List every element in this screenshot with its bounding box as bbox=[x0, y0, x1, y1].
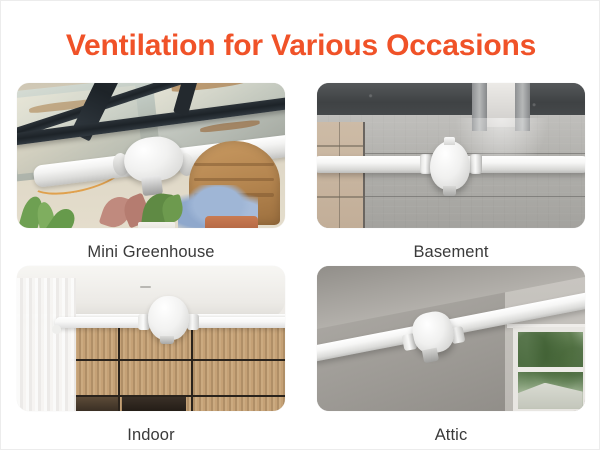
terracotta-pot bbox=[205, 216, 259, 228]
occasion-tile-mini-greenhouse[interactable]: Mini Greenhouse bbox=[1, 83, 301, 266]
cabinet-recess bbox=[122, 397, 186, 411]
cabinet-recess bbox=[71, 397, 118, 411]
occasion-tile-attic[interactable]: Attic bbox=[301, 266, 600, 449]
attic-window bbox=[513, 327, 585, 411]
white-pot bbox=[138, 222, 176, 228]
indoor-photo bbox=[17, 266, 285, 411]
cabinet-edge bbox=[118, 321, 121, 411]
tile-caption: Indoor bbox=[127, 426, 174, 445]
tile-caption: Mini Greenhouse bbox=[87, 243, 214, 262]
inline-duct-fan bbox=[148, 296, 188, 340]
window-muntin-bar bbox=[518, 367, 583, 372]
trellis-slat bbox=[194, 163, 274, 166]
duct-collar bbox=[470, 154, 482, 174]
greenhouse-photo bbox=[17, 83, 285, 228]
inline-duct-fan bbox=[430, 141, 470, 190]
occasion-tile-grid: Mini Greenhouse bbox=[1, 83, 600, 449]
tile-caption: Basement bbox=[413, 243, 488, 262]
occasion-tile-basement[interactable]: Basement bbox=[301, 83, 600, 266]
cabinet-edge bbox=[71, 359, 285, 362]
page-title: Ventilation for Various Occasions bbox=[1, 29, 600, 63]
duct-collar bbox=[187, 314, 199, 330]
cabinet-edge bbox=[191, 321, 194, 411]
attic-photo bbox=[317, 266, 585, 411]
wall-texture bbox=[317, 83, 585, 115]
basement-photo bbox=[317, 83, 585, 228]
tile-caption: Attic bbox=[435, 426, 468, 445]
trellis-slat bbox=[194, 178, 274, 181]
product-feature-panel: Ventilation for Various Occasions bbox=[0, 0, 600, 450]
fan-outlet-nozzle bbox=[160, 336, 173, 345]
tile-grout-line bbox=[339, 122, 341, 228]
fan-outlet-nozzle bbox=[443, 186, 456, 196]
sheer-curtain bbox=[17, 278, 76, 411]
tiled-wall-panel bbox=[317, 122, 365, 228]
basement-upper-wall bbox=[317, 83, 585, 115]
fan-outlet-nozzle bbox=[422, 347, 439, 363]
fan-top-cap bbox=[444, 137, 455, 146]
occasion-tile-indoor[interactable]: Indoor bbox=[1, 266, 301, 449]
ceiling-vent-mark bbox=[140, 286, 151, 288]
